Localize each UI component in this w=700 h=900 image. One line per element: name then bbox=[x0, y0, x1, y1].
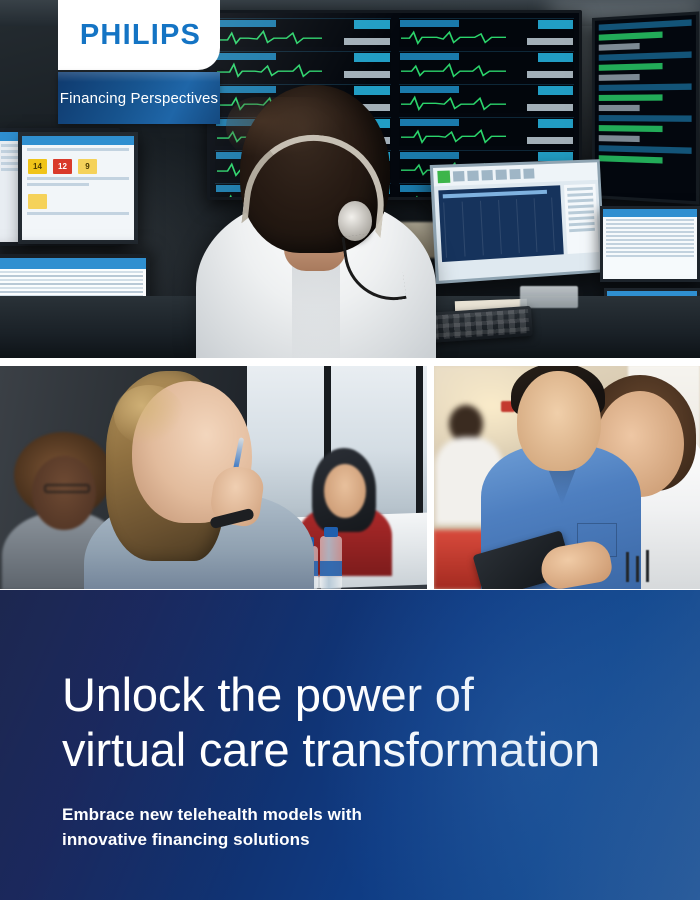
toolbar-icon bbox=[509, 169, 520, 179]
side-panel-row bbox=[569, 222, 595, 226]
ecg-waveform-icon bbox=[401, 61, 506, 78]
data-row bbox=[599, 19, 692, 30]
financing-perspectives-label: Financing Perspectives bbox=[60, 90, 218, 107]
philips-logo-plate: PHILIPS bbox=[58, 0, 220, 70]
bottle-cap bbox=[324, 527, 338, 537]
toolbar-icon bbox=[495, 169, 506, 179]
alert-badge-count bbox=[28, 194, 47, 209]
side-panel-row bbox=[568, 210, 594, 214]
hero-content: Unlock the power of virtual care transfo… bbox=[0, 590, 700, 852]
participant-foreground bbox=[84, 375, 314, 590]
alert-badge-count: 14 bbox=[28, 159, 47, 174]
data-row bbox=[599, 135, 639, 142]
data-row bbox=[599, 94, 663, 101]
tilted-chart-monitor bbox=[430, 159, 606, 284]
vital-value-bar bbox=[538, 119, 573, 128]
financing-perspectives-band: Financing Perspectives bbox=[58, 72, 220, 124]
vital-value-bar-secondary bbox=[344, 38, 390, 45]
photo-meeting-room-discussion bbox=[0, 365, 427, 590]
browser-titlebar bbox=[603, 209, 697, 217]
toolbar-icon bbox=[467, 170, 479, 181]
vital-value-bar bbox=[354, 53, 389, 62]
dashboard-text-line bbox=[27, 148, 129, 151]
water-bottle bbox=[320, 536, 342, 590]
side-panel-row bbox=[569, 228, 595, 232]
philips-wordmark: PHILIPS bbox=[77, 21, 201, 50]
spreadsheet-titlebar bbox=[0, 258, 146, 269]
ecg-waveform-icon bbox=[401, 28, 506, 45]
browser-content-rows bbox=[603, 217, 697, 261]
spreadsheet-row bbox=[0, 275, 143, 277]
chart-panel bbox=[438, 185, 563, 262]
content-row bbox=[606, 231, 694, 233]
content-row bbox=[606, 251, 694, 253]
vital-value-bar bbox=[538, 86, 573, 95]
data-row bbox=[599, 63, 663, 71]
spreadsheet-row bbox=[0, 291, 143, 293]
pen bbox=[636, 556, 639, 582]
philips-logo-block: PHILIPS Financing Perspectives bbox=[58, 0, 220, 124]
data-row bbox=[599, 155, 663, 163]
hero-headline: Unlock the power of virtual care transfo… bbox=[62, 668, 660, 777]
chart-gridlines bbox=[443, 197, 560, 257]
secondary-monitor-screen bbox=[592, 11, 699, 204]
content-row bbox=[606, 227, 694, 229]
ecg-waveform-icon bbox=[217, 28, 322, 45]
spreadsheet-row bbox=[0, 271, 143, 273]
toolbar-icon bbox=[453, 171, 465, 182]
data-row bbox=[599, 51, 692, 60]
patient-label-bar bbox=[216, 20, 276, 27]
collage-gutter-vertical bbox=[427, 365, 434, 590]
data-row bbox=[599, 83, 692, 90]
spreadsheet-row bbox=[0, 287, 143, 289]
patient-label-bar bbox=[216, 53, 276, 60]
data-row bbox=[599, 31, 663, 40]
pen bbox=[646, 550, 649, 582]
content-row bbox=[606, 223, 694, 225]
vital-value-bar bbox=[354, 20, 389, 29]
vital-value-bar-secondary bbox=[527, 137, 573, 144]
clinician-with-headset bbox=[196, 83, 436, 358]
content-row bbox=[606, 235, 694, 237]
vital-value-bar bbox=[538, 53, 573, 62]
side-panel-row bbox=[569, 216, 595, 220]
data-row bbox=[599, 115, 692, 122]
hero-panel: Unlock the power of virtual care transfo… bbox=[0, 590, 700, 900]
side-panel-row bbox=[568, 199, 594, 203]
dashboard-text-line bbox=[27, 212, 129, 215]
dashboard-text-line bbox=[27, 177, 129, 180]
monitor-side-panel bbox=[564, 184, 599, 254]
vital-value-bar bbox=[538, 20, 573, 29]
data-row bbox=[599, 43, 639, 51]
vital-value-bar-secondary bbox=[344, 71, 390, 78]
dashboard-monitor-with-badges: 14 12 9 bbox=[18, 132, 138, 244]
dashboard-text-line bbox=[27, 183, 89, 186]
patient-label-bar bbox=[400, 53, 460, 60]
content-row bbox=[606, 255, 694, 257]
patient-label-bar bbox=[400, 20, 460, 27]
patient-tile bbox=[215, 18, 391, 47]
monitor-toolbar bbox=[433, 162, 598, 186]
toolbar-icon bbox=[481, 170, 493, 181]
vital-value-bar-secondary bbox=[527, 38, 573, 45]
hero-subheadline: Embrace new telehealth models with innov… bbox=[62, 803, 660, 852]
chart-header-bar bbox=[443, 190, 547, 199]
dashboard-titlebar bbox=[22, 136, 134, 145]
right-browser-monitor bbox=[600, 206, 700, 282]
alert-badge-row: 14 12 9 bbox=[22, 154, 134, 174]
vital-value-bar-secondary bbox=[527, 71, 573, 78]
alert-badge-row bbox=[22, 189, 134, 209]
side-panel-row bbox=[568, 204, 594, 208]
alert-badge-count: 9 bbox=[78, 159, 97, 174]
photo-clinicians-with-tablet bbox=[433, 365, 700, 590]
data-row bbox=[599, 74, 639, 81]
content-row bbox=[606, 243, 694, 245]
side-panel-row bbox=[567, 187, 593, 191]
brochure-cover-page: 14 12 9 bbox=[0, 0, 700, 900]
content-row bbox=[606, 219, 694, 221]
desk-phone-device bbox=[520, 286, 578, 308]
data-row bbox=[599, 125, 663, 132]
ecg-waveform-icon bbox=[217, 61, 322, 78]
vital-value-bar-secondary bbox=[527, 104, 573, 111]
data-row bbox=[599, 145, 692, 154]
pen bbox=[626, 552, 629, 582]
collage-gutter-horizontal bbox=[0, 358, 700, 366]
side-panel-row bbox=[567, 193, 593, 197]
bottle-label bbox=[320, 561, 342, 576]
spreadsheet-row bbox=[0, 283, 143, 285]
patient-tile bbox=[399, 51, 575, 80]
participant-hair-highlight bbox=[114, 385, 184, 445]
pen-holder bbox=[624, 548, 654, 582]
patient-tile bbox=[399, 18, 575, 47]
patient-tile bbox=[215, 51, 391, 80]
clinician-face bbox=[517, 371, 601, 471]
participant-face bbox=[324, 464, 366, 518]
toolbar-icon bbox=[523, 168, 534, 178]
content-row bbox=[606, 239, 694, 241]
spreadsheet-row bbox=[0, 279, 143, 281]
data-row bbox=[599, 105, 639, 111]
alert-badge-count: 12 bbox=[53, 159, 72, 174]
monitor-data-rows bbox=[599, 19, 692, 196]
status-ok-icon bbox=[437, 170, 450, 183]
content-row bbox=[606, 247, 694, 249]
